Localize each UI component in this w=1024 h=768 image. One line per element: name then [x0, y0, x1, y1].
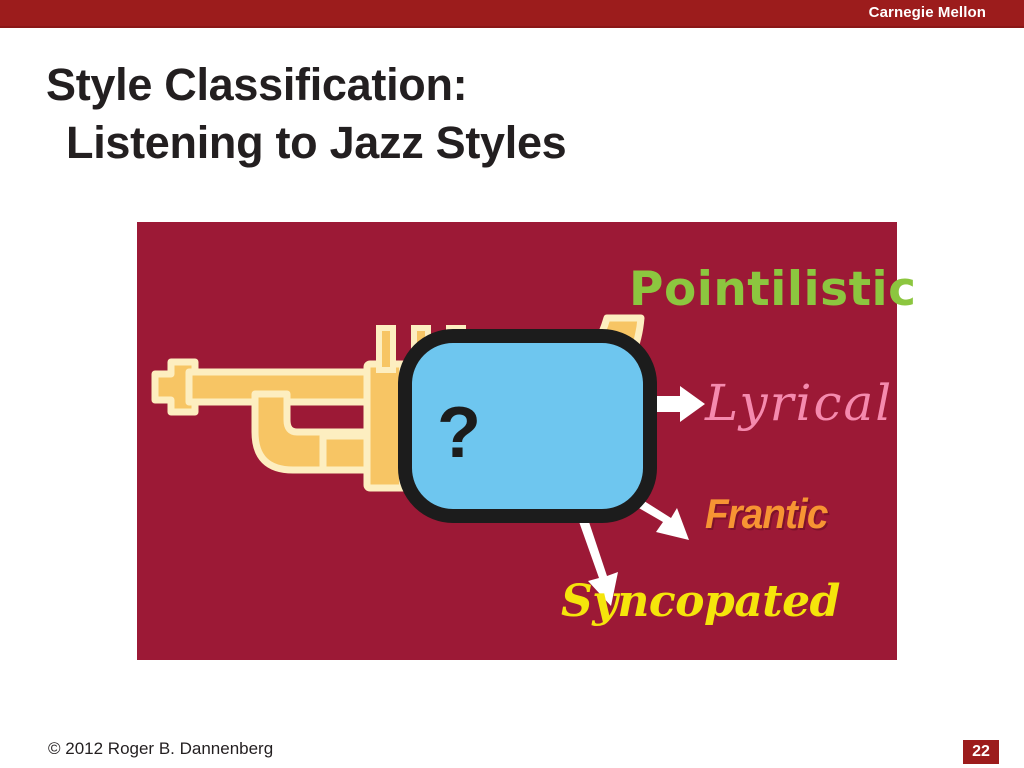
carnegie-mellon-brand: Carnegie Mellon: [869, 4, 986, 22]
style-label-syncopated: Syncopated: [561, 580, 840, 624]
header-band: Carnegie Mellon: [0, 0, 1024, 28]
figure-panel: ? Pointilistic Lyrical Frantic Syncopate…: [137, 222, 897, 660]
page-number-badge: 22: [963, 740, 999, 764]
style-label-lyrical: Lyrical: [705, 378, 893, 428]
question-mark-label: ?: [399, 397, 519, 469]
style-label-pointilistic: Pointilistic: [629, 266, 917, 313]
copyright-notice: © 2012 Roger B. Dannenberg: [48, 739, 273, 759]
style-label-frantic: Frantic: [705, 493, 827, 535]
page-title: Style Classification: Listening to Jazz …: [46, 56, 946, 172]
page-title-line-1: Style Classification:: [46, 59, 467, 110]
page-title-line-2: Listening to Jazz Styles: [46, 114, 946, 172]
